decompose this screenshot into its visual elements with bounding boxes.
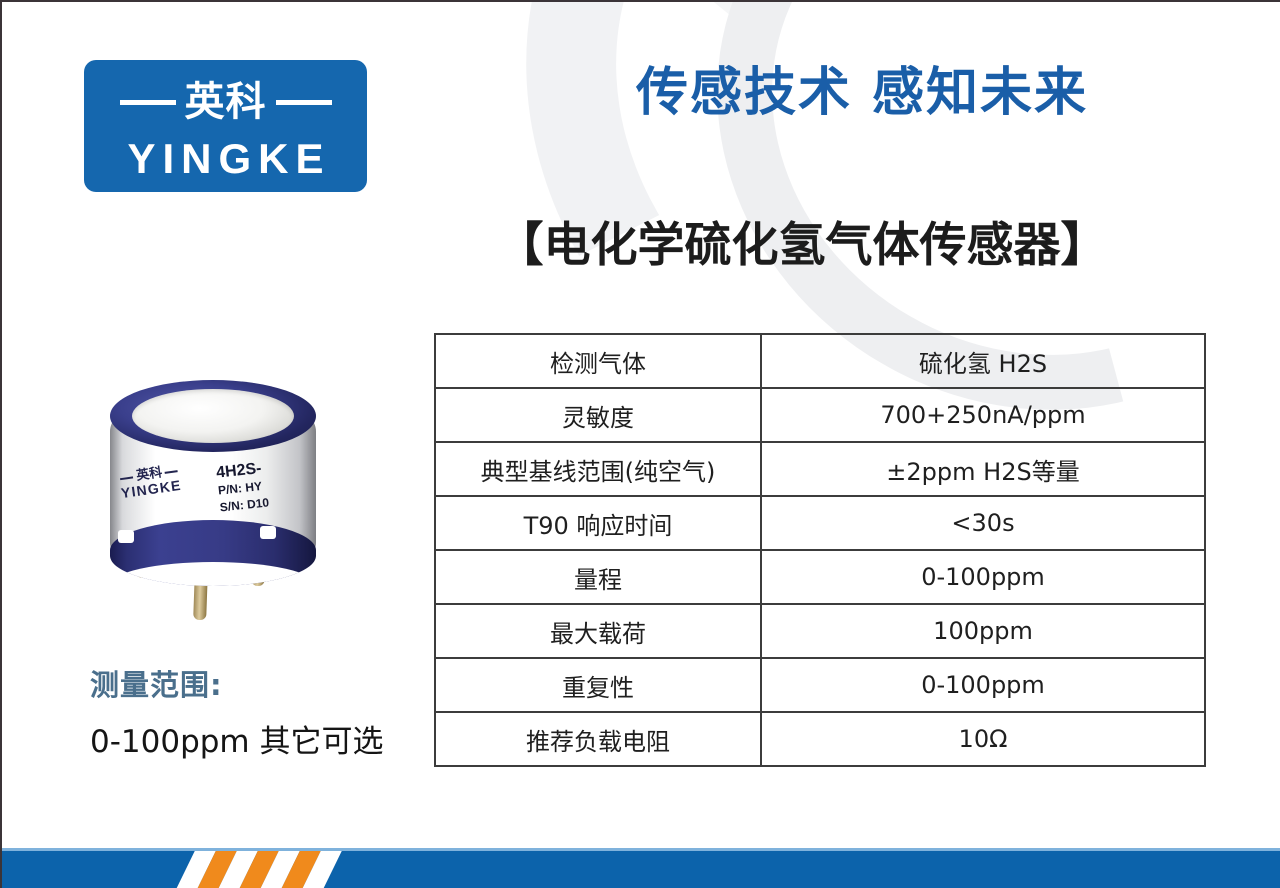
table-row: 量程 0-100ppm (435, 550, 1205, 604)
table-row: 灵敏度 700+250nA/ppm (435, 388, 1205, 442)
brand-logo-cn-row: 英科 (84, 82, 367, 122)
table-row: 检测气体 硫化氢 H2S (435, 334, 1205, 388)
sensor-logo-rule-right-icon (165, 470, 178, 474)
sensor-membrane (132, 389, 294, 443)
product-spec-page: 英科 YINGKE 传感技术 感知未来 【电化学硫化氢气体传感器】 检测气体 硫… (0, 0, 1280, 888)
spec-value: 硫化氢 H2S (761, 334, 1205, 388)
spec-label: 灵敏度 (435, 388, 761, 442)
spec-label: T90 响应时间 (435, 496, 761, 550)
sensor-label: 英科 YINGKE 4H2S- P/N: HY S/N: D10 (110, 456, 316, 530)
header-slogan: 传感技术 感知未来 (562, 64, 1162, 124)
brand-logo-cn: 英科 (185, 82, 267, 122)
spec-label: 检测气体 (435, 334, 761, 388)
spec-value: 0-100ppm (761, 658, 1205, 712)
specification-table-body: 检测气体 硫化氢 H2S 灵敏度 700+250nA/ppm 典型基线范围(纯空… (435, 334, 1205, 766)
spec-value: ±2ppm H2S等量 (761, 442, 1205, 496)
sensor-serial-number-text: S/N: D10 (219, 494, 270, 516)
table-row: 典型基线范围(纯空气) ±2ppm H2S等量 (435, 442, 1205, 496)
table-row: 最大载荷 100ppm (435, 604, 1205, 658)
spec-value: 100ppm (761, 604, 1205, 658)
logo-rule-right-icon (276, 100, 332, 105)
footer-bar (2, 848, 1280, 888)
sensor-top-ring (110, 380, 316, 452)
spec-label: 最大载荷 (435, 604, 761, 658)
spec-value: 10Ω (761, 712, 1205, 766)
table-row: T90 响应时间 <30s (435, 496, 1205, 550)
spec-value: 700+250nA/ppm (761, 388, 1205, 442)
spec-label: 典型基线范围(纯空气) (435, 442, 761, 496)
spec-label: 推荐负载电阻 (435, 712, 761, 766)
sensor-label-logo: 英科 YINGKE (118, 464, 183, 503)
page-title: 【电化学硫化氢气体传感器】 (422, 218, 1182, 274)
measuring-range-label: 测量范围: (90, 662, 223, 704)
brand-logo: 英科 YINGKE (84, 60, 367, 192)
spec-label: 重复性 (435, 658, 761, 712)
spec-value: 0-100ppm (761, 550, 1205, 604)
table-row: 推荐负载电阻 10Ω (435, 712, 1205, 766)
brand-logo-en: YINGKE (84, 138, 367, 180)
logo-rule-left-icon (120, 100, 176, 105)
table-row: 重复性 0-100ppm (435, 658, 1205, 712)
sensor-label-codes: 4H2S- P/N: HY S/N: D10 (215, 460, 270, 517)
sensor-notch-left (118, 530, 134, 543)
measuring-range-value: 0-100ppm 其它可选 (90, 716, 384, 761)
specification-table: 检测气体 硫化氢 H2S 灵敏度 700+250nA/ppm 典型基线范围(纯空… (434, 333, 1206, 767)
spec-label: 量程 (435, 550, 761, 604)
sensor-product-photo: 英科 YINGKE 4H2S- P/N: HY S/N: D10 (110, 380, 320, 630)
spec-value: <30s (761, 496, 1205, 550)
sensor-logo-rule-left-icon (120, 476, 133, 480)
